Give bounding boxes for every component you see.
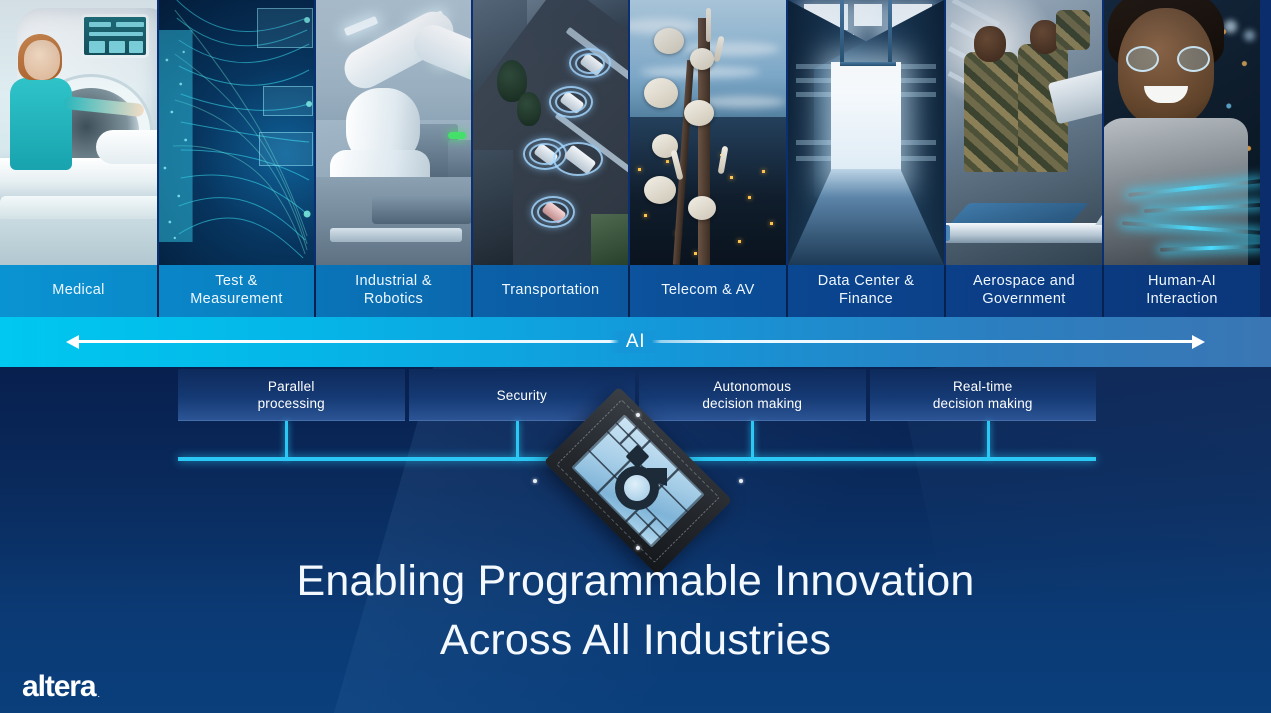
industry-image-aerospace-government	[944, 0, 1102, 265]
industry-label-telecom-av: Telecom & AV	[628, 265, 786, 317]
capability-label: Real-timedecision making	[933, 378, 1033, 412]
industry-label-text: Transportation	[498, 282, 604, 300]
trademark-symbol: .	[97, 689, 100, 699]
connector-drop-line	[285, 421, 288, 459]
connector-drop-line	[987, 421, 990, 459]
industry-label-medical: Medical	[0, 265, 157, 317]
industry-image-industrial-robotics	[314, 0, 471, 265]
industry-photo-strip	[0, 0, 1271, 265]
industry-label-band: Medical Test &Measurement Industrial &Ro…	[0, 265, 1271, 317]
industry-image-test-measurement	[157, 0, 314, 265]
industry-image-medical	[0, 0, 157, 265]
industry-label-transportation: Transportation	[471, 265, 628, 317]
ai-spectrum-band: AI	[0, 317, 1271, 367]
capability-parallel-processing[interactable]: Parallelprocessing	[178, 369, 405, 421]
industry-image-data-center-finance	[786, 0, 944, 265]
industry-label-aerospace-government: Aerospace andGovernment	[944, 265, 1102, 317]
industry-label-text: Data Center &Finance	[814, 273, 918, 309]
altera-a-mark-icon	[607, 448, 669, 510]
industry-image-human-ai-interaction	[1102, 0, 1260, 265]
capability-label: Security	[497, 387, 547, 404]
industry-label-industrial-robotics: Industrial &Robotics	[314, 265, 471, 317]
industry-label-human-ai-interaction: Human-AIInteraction	[1102, 265, 1260, 317]
industry-label-text: Industrial &Robotics	[351, 273, 436, 309]
capability-label: Parallelprocessing	[258, 378, 325, 412]
capability-real-time-decision-making[interactable]: Real-timedecision making	[870, 369, 1097, 421]
industry-label-text: Aerospace andGovernment	[969, 273, 1079, 309]
industry-label-data-center-finance: Data Center &Finance	[786, 265, 944, 317]
altera-wordmark: altera	[22, 672, 95, 702]
altera-logo: altera .	[22, 672, 100, 702]
page-title: Enabling Programmable Innovation Across …	[0, 552, 1271, 671]
industry-image-transportation	[471, 0, 628, 265]
industry-label-test-measurement: Test &Measurement	[157, 265, 314, 317]
industry-label-text: Human-AIInteraction	[1142, 273, 1222, 309]
headline-line-1: Enabling Programmable Innovation	[296, 557, 974, 605]
altera-fpga-chip-graphic	[519, 405, 757, 557]
industry-image-telecom-av	[628, 0, 786, 265]
industry-label-text: Medical	[48, 282, 108, 300]
industry-label-text: Test &Measurement	[186, 273, 287, 309]
ai-band-label: AI	[610, 331, 661, 353]
industry-label-text: Telecom & AV	[657, 282, 758, 300]
headline-line-2: Across All Industries	[0, 611, 1271, 670]
